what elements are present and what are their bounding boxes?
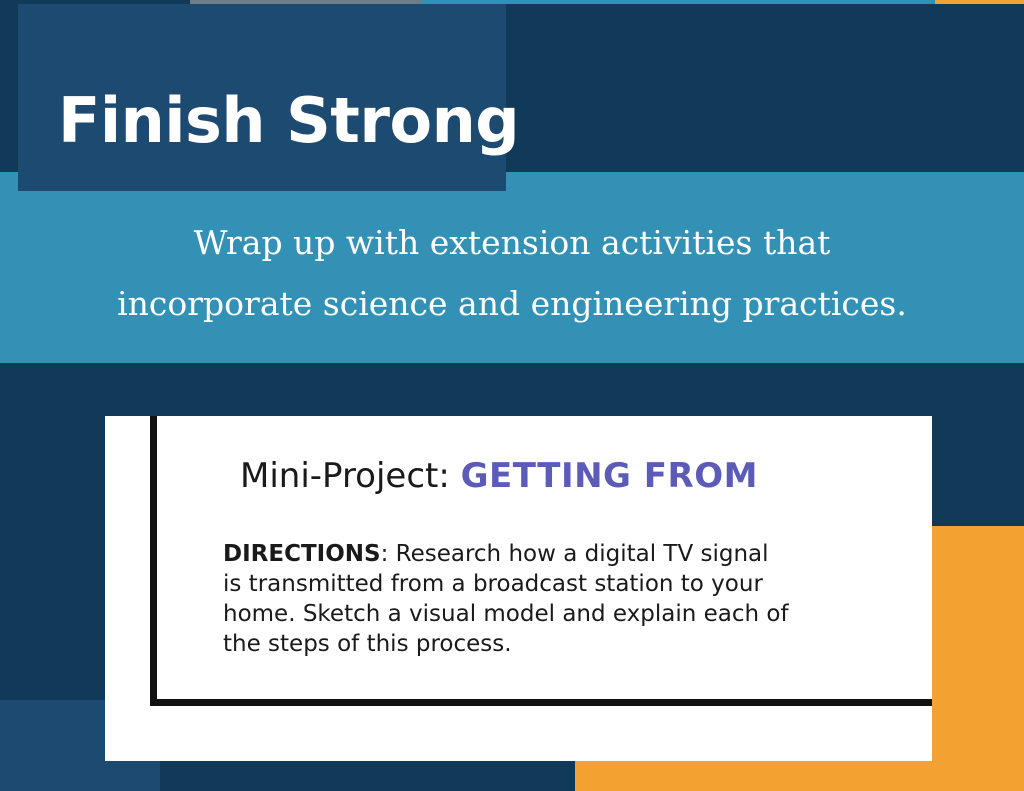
worksheet-directions-line-3: home. Sketch a visual model and explain … <box>223 599 895 629</box>
top-accent-strip-orange <box>935 0 1024 4</box>
worksheet-card: Mini-Project: GETTING FROM DIRECTIONS: R… <box>105 416 932 761</box>
subtitle-line-1: Wrap up with extension activities that <box>0 212 1024 273</box>
title-plaque: Finish Strong <box>18 4 506 191</box>
worksheet-directions-label: DIRECTIONS <box>223 541 381 567</box>
worksheet-directions-text-1: : Research how a digital TV signal <box>381 541 769 567</box>
subtitle-line-2: incorporate science and engineering prac… <box>0 273 1024 334</box>
worksheet-directions-line-2: is transmitted from a broadcast station … <box>223 569 895 599</box>
worksheet-horizontal-rule <box>150 699 932 706</box>
worksheet-directions-line-1: DIRECTIONS: Research how a digital TV si… <box>223 539 895 569</box>
worksheet-heading: Mini-Project: GETTING FROM <box>240 456 758 496</box>
worksheet-vertical-rule <box>150 416 157 706</box>
slide-subtitle: Wrap up with extension activities that i… <box>0 212 1024 334</box>
worksheet-heading-label: Mini-Project: <box>240 456 461 496</box>
orange-accent-block-right <box>932 526 1024 791</box>
worksheet-heading-accent: GETTING FROM <box>461 456 758 496</box>
worksheet-directions: DIRECTIONS: Research how a digital TV si… <box>223 539 895 659</box>
slide-title: Finish Strong <box>58 86 519 156</box>
orange-accent-block-bottom <box>575 761 1024 791</box>
worksheet-directions-line-4: the steps of this process. <box>223 629 895 659</box>
slide-canvas: Finish Strong Wrap up with extension act… <box>0 0 1024 791</box>
